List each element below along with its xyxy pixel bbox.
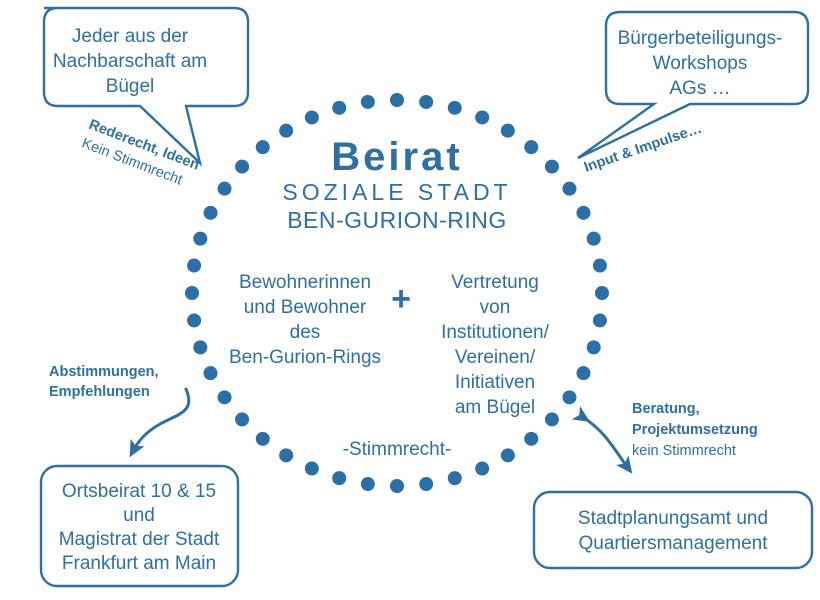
annotation-bottom-right-line-2: Projektumsetzung [632,422,758,438]
annotation-bottom-left-line-1: Abstimmungen, [49,364,159,380]
ring-dot [256,432,270,446]
ring-dot [218,182,232,196]
center-right-line-6: am Bügel [455,397,535,418]
center-right-line-3: Institutionen/ [441,322,549,343]
ring-dot [204,206,218,220]
ring-dot [587,340,601,354]
ring-dot [305,110,319,124]
ring-dot [361,95,375,109]
center-heading-main: Beirat [331,135,462,179]
center-left-line-3: des [290,322,321,343]
ring-dot [545,412,559,426]
box-bottom-right-line-2: Quartiersmanagement [578,533,768,554]
center-right-line-5: Initiativen [455,372,535,393]
ring-dot [279,448,293,462]
ring-dot [501,124,515,138]
ring-dot [448,101,462,115]
speech-bubble-top-right-line-2: Workshops [653,53,748,74]
ring-dot [501,448,515,462]
arrow-beirat-stadtplanungsamt [584,418,628,468]
ring-dot [332,101,346,115]
annotation-bottom-right-line-1: Beratung, [632,401,700,417]
ring-dot [576,206,590,220]
box-bottom-right-line-1: Stadtplanungsamt und [578,508,768,529]
box-bottom-left-line-3: Magistrat der Stadt [59,529,220,550]
speech-bubble-top-right-line-1: Bürgerbeteiligungs- [618,28,783,49]
ring-dot [390,479,404,493]
center-footer-stimmrecht: -Stimmrecht- [343,439,452,460]
center-right-line-4: Vereinen/ [455,347,536,368]
ring-dot [256,140,270,154]
ring-dot [185,286,199,300]
center-right-line-2: von [480,297,511,318]
center-left-line-4: Ben-Gurion-Rings [229,347,381,368]
ring-dot [448,471,462,485]
ring-dot [279,124,293,138]
ring-dot [187,259,201,273]
box-bottom-left-line-4: Frankfurt am Main [62,553,216,574]
ring-dot [187,313,201,327]
ring-dot [475,110,489,124]
speech-bubble-top-right-line-3: AGs … [669,78,730,99]
speech-bubble-top-left-line-2: Nachbarschaft am [53,51,207,72]
ring-dot [204,366,218,380]
ring-dot [361,477,375,491]
ring-dot [305,462,319,476]
box-bottom-left[interactable]: Ortsbeirat 10 & 15 und Magistrat der Sta… [41,466,238,586]
center-content: Beirat SOZIALE STADT BEN-GURION-RING Bew… [229,135,550,460]
ring-dot [595,286,609,300]
ring-dot [593,259,607,273]
ring-dot [193,340,207,354]
box-bottom-right[interactable]: Stadtplanungsamt und Quartiersmanagement [534,492,812,568]
ring-dot [576,366,590,380]
ring-dot [218,390,232,404]
ring-dot [545,160,559,174]
ring-dot [587,232,601,246]
ring-dot [562,390,576,404]
annotation-bottom-left: Abstimmungen, Empfehlungen [49,364,159,400]
ring-dot [475,462,489,476]
center-heading-sub2: BEN-GURION-RING [287,207,507,233]
annotation-bottom-right-line-3: kein Stimmrecht [632,443,736,459]
ring-dot [593,313,607,327]
speech-bubble-top-left-line-3: Bügel [106,76,155,97]
ring-dot [524,140,538,154]
annotation-bottom-right: Beratung, Projektumsetzung kein Stimmrec… [632,401,758,459]
center-right-line-1: Vertretung [451,272,539,293]
ring-dot [235,160,249,174]
ring-dot [332,471,346,485]
ring-dot [562,182,576,196]
annotation-bottom-left-line-2: Empfehlungen [49,384,150,400]
ring-dot [419,477,433,491]
diagram-canvas: Beirat SOZIALE STADT BEN-GURION-RING Bew… [0,0,820,600]
speech-bubble-top-left-line-1: Jeder aus der [72,26,189,47]
plus-sign: + [391,280,411,318]
box-bottom-left-line-2: und [123,505,155,526]
diagram-root: Beirat SOZIALE STADT BEN-GURION-RING Bew… [0,0,820,600]
ring-dot [419,95,433,109]
ring-dot [390,93,404,107]
box-bottom-left-line-1: Ortsbeirat 10 & 15 [62,481,216,502]
box-bottom-right-shape [534,492,812,568]
center-heading-sub1: SOZIALE STADT [282,179,511,205]
center-left-line-1: Bewohnerinnen [239,272,371,293]
ring-dot [193,232,207,246]
center-left-line-2: und Bewohner [244,297,367,318]
ring-dot [524,432,538,446]
ring-dot [235,412,249,426]
